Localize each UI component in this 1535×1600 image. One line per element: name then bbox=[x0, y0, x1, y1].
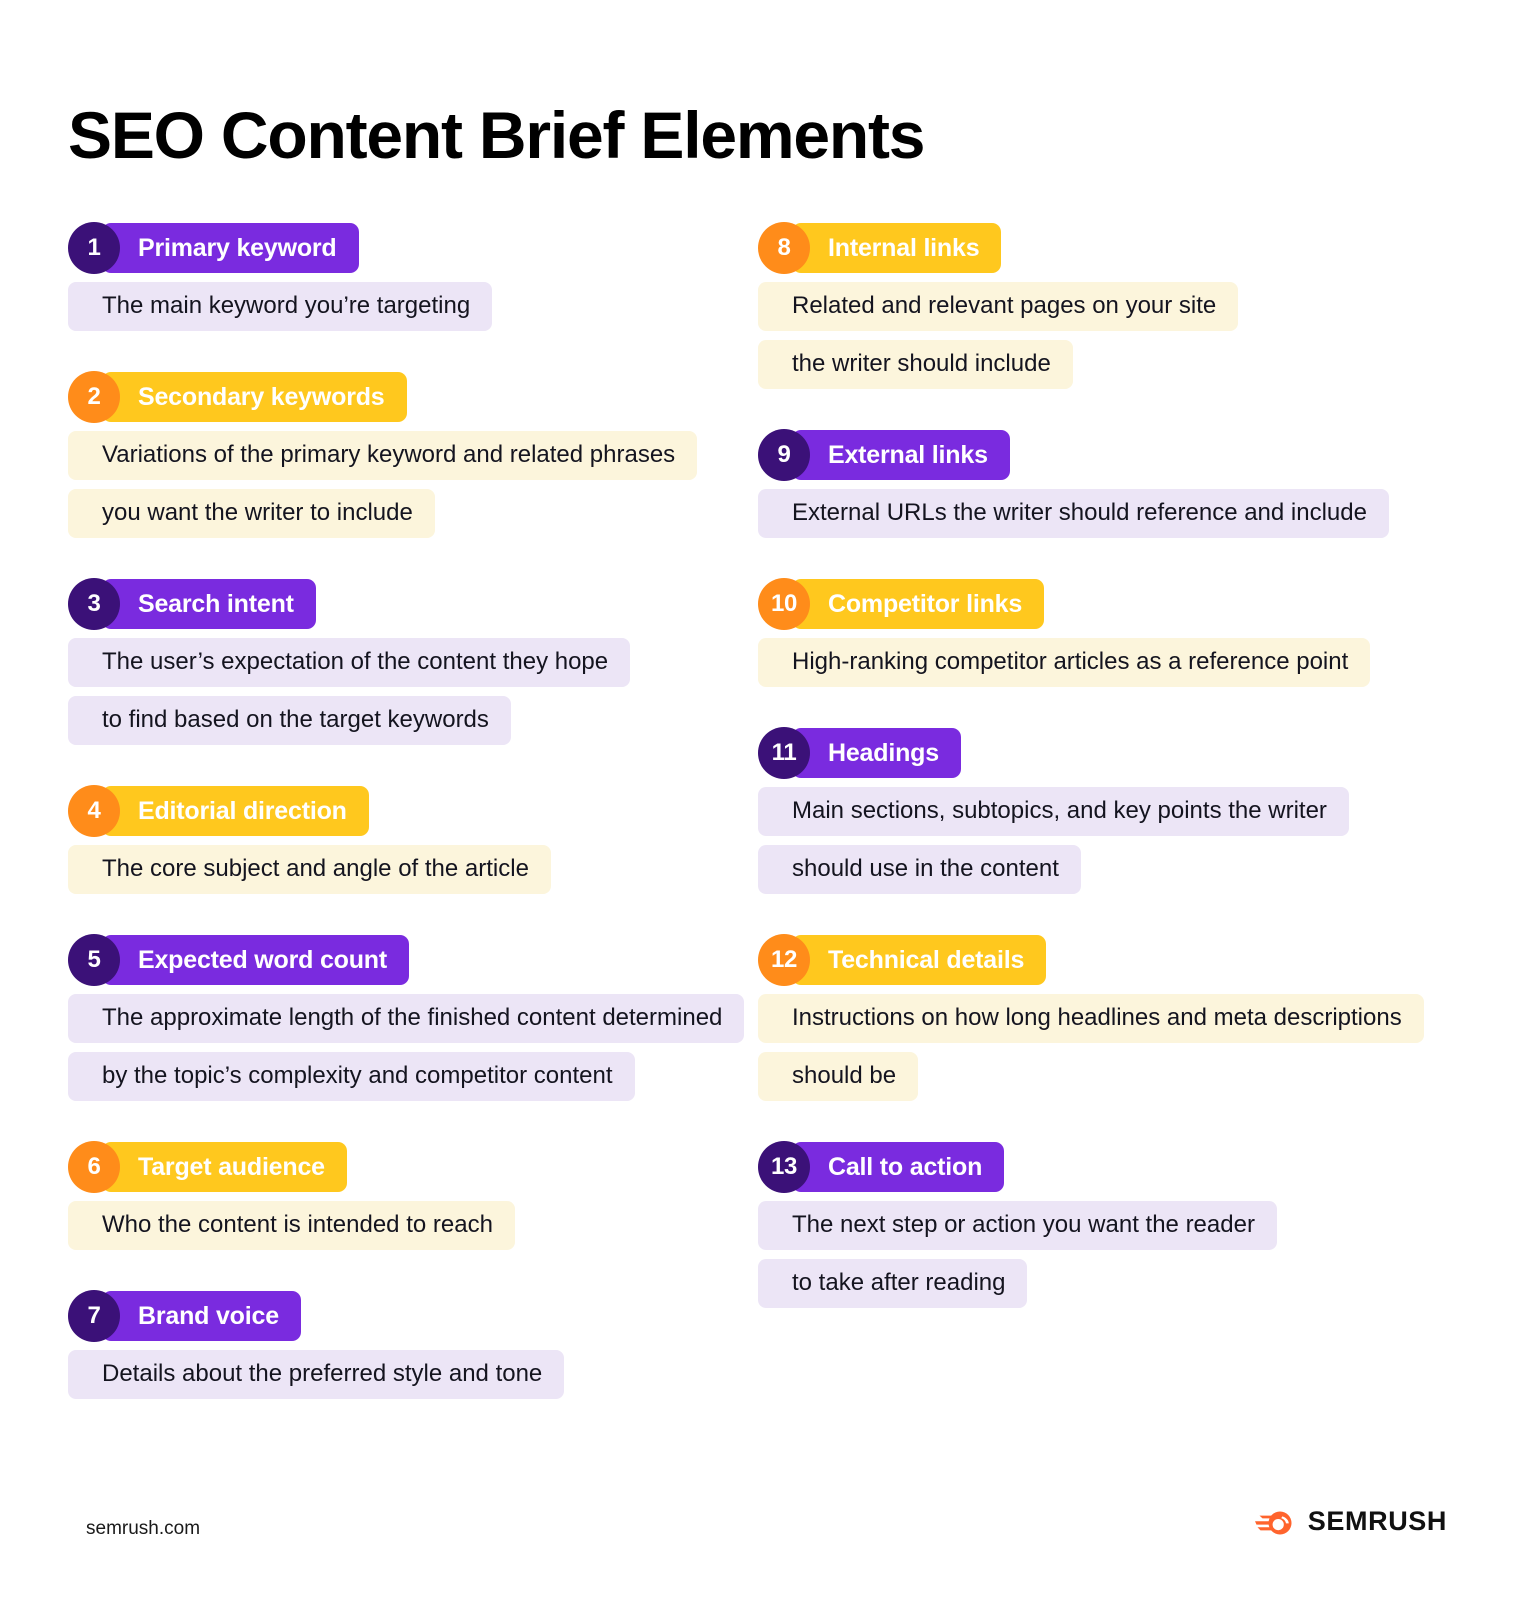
item-number-badge: 3 bbox=[68, 578, 120, 630]
item-number-badge: 2 bbox=[68, 371, 120, 423]
item-header: 5Expected word count bbox=[68, 934, 758, 986]
description-line: by the topic’s complexity and competitor… bbox=[68, 1052, 635, 1101]
item-description: External URLs the writer should referenc… bbox=[758, 489, 1458, 538]
brief-element-item: 10Competitor linksHigh-ranking competito… bbox=[758, 578, 1458, 687]
description-line: The user’s expectation of the content th… bbox=[68, 638, 630, 687]
footer: semrush.com SEMRUSH bbox=[0, 1480, 1535, 1600]
item-label-pill: Secondary keywords bbox=[102, 372, 407, 422]
brief-element-item: 4Editorial directionThe core subject and… bbox=[68, 785, 758, 894]
item-header: 1Primary keyword bbox=[68, 222, 758, 274]
description-line: you want the writer to include bbox=[68, 489, 435, 538]
item-description: The approximate length of the finished c… bbox=[68, 994, 758, 1101]
item-header: 3Search intent bbox=[68, 578, 758, 630]
brief-element-item: 2Secondary keywordsVariations of the pri… bbox=[68, 371, 758, 538]
footer-site-url: semrush.com bbox=[86, 1518, 200, 1540]
item-label-pill: Headings bbox=[792, 728, 961, 778]
description-line: the writer should include bbox=[758, 340, 1073, 389]
brief-element-item: 7Brand voiceDetails about the preferred … bbox=[68, 1290, 758, 1399]
infographic-page: SEO Content Brief Elements 1Primary keyw… bbox=[0, 0, 1535, 1600]
item-description: The main keyword you’re targeting bbox=[68, 282, 758, 331]
item-number-badge: 5 bbox=[68, 934, 120, 986]
brief-element-item: 8Internal linksRelated and relevant page… bbox=[758, 222, 1458, 389]
item-label-pill: Internal links bbox=[792, 223, 1001, 273]
description-line: The next step or action you want the rea… bbox=[758, 1201, 1277, 1250]
description-line: High-ranking competitor articles as a re… bbox=[758, 638, 1370, 687]
item-number-badge: 1 bbox=[68, 222, 120, 274]
right-column: 8Internal linksRelated and relevant page… bbox=[758, 222, 1458, 1308]
item-description: The user’s expectation of the content th… bbox=[68, 638, 758, 745]
item-description: Variations of the primary keyword and re… bbox=[68, 431, 758, 538]
item-header: 11Headings bbox=[758, 727, 1458, 779]
brief-element-item: 3Search intentThe user’s expectation of … bbox=[68, 578, 758, 745]
item-number-badge: 11 bbox=[758, 727, 810, 779]
description-line: to take after reading bbox=[758, 1259, 1027, 1308]
item-description: Details about the preferred style and to… bbox=[68, 1350, 758, 1399]
brief-element-item: 12Technical detailsInstructions on how l… bbox=[758, 934, 1458, 1101]
page-title: SEO Content Brief Elements bbox=[68, 102, 924, 168]
description-line: to find based on the target keywords bbox=[68, 696, 511, 745]
item-label-pill: External links bbox=[792, 430, 1010, 480]
item-number-badge: 13 bbox=[758, 1141, 810, 1193]
item-label-pill: Target audience bbox=[102, 1142, 347, 1192]
item-header: 13Call to action bbox=[758, 1141, 1458, 1193]
item-description: Main sections, subtopics, and key points… bbox=[758, 787, 1458, 894]
item-label-pill: Primary keyword bbox=[102, 223, 359, 273]
item-header: 8Internal links bbox=[758, 222, 1458, 274]
item-number-badge: 6 bbox=[68, 1141, 120, 1193]
item-label-pill: Brand voice bbox=[102, 1291, 301, 1341]
item-label-pill: Call to action bbox=[792, 1142, 1004, 1192]
semrush-logo: SEMRUSH bbox=[1255, 1506, 1447, 1537]
description-line: The approximate length of the finished c… bbox=[68, 994, 744, 1043]
item-description: Related and relevant pages on your sitet… bbox=[758, 282, 1458, 389]
description-line: External URLs the writer should referenc… bbox=[758, 489, 1389, 538]
description-line: should be bbox=[758, 1052, 918, 1101]
description-line: The main keyword you’re targeting bbox=[68, 282, 492, 331]
description-line: should use in the content bbox=[758, 845, 1081, 894]
item-description: Who the content is intended to reach bbox=[68, 1201, 758, 1250]
item-number-badge: 4 bbox=[68, 785, 120, 837]
left-column: 1Primary keywordThe main keyword you’re … bbox=[68, 222, 758, 1399]
item-label-pill: Competitor links bbox=[792, 579, 1044, 629]
brief-element-item: 11HeadingsMain sections, subtopics, and … bbox=[758, 727, 1458, 894]
item-header: 10Competitor links bbox=[758, 578, 1458, 630]
item-header: 6Target audience bbox=[68, 1141, 758, 1193]
description-line: Details about the preferred style and to… bbox=[68, 1350, 564, 1399]
item-header: 4Editorial direction bbox=[68, 785, 758, 837]
item-label-pill: Expected word count bbox=[102, 935, 409, 985]
description-line: Variations of the primary keyword and re… bbox=[68, 431, 697, 480]
item-header: 12Technical details bbox=[758, 934, 1458, 986]
item-label-pill: Search intent bbox=[102, 579, 316, 629]
item-number-badge: 7 bbox=[68, 1290, 120, 1342]
brief-element-item: 9External linksExternal URLs the writer … bbox=[758, 429, 1458, 538]
item-header: 9External links bbox=[758, 429, 1458, 481]
items-columns: 1Primary keywordThe main keyword you’re … bbox=[0, 222, 1535, 1399]
item-number-badge: 9 bbox=[758, 429, 810, 481]
item-label-pill: Technical details bbox=[792, 935, 1046, 985]
description-line: Instructions on how long headlines and m… bbox=[758, 994, 1424, 1043]
brief-element-item: 13Call to actionThe next step or action … bbox=[758, 1141, 1458, 1308]
item-description: High-ranking competitor articles as a re… bbox=[758, 638, 1458, 687]
item-number-badge: 10 bbox=[758, 578, 810, 630]
description-line: Main sections, subtopics, and key points… bbox=[758, 787, 1349, 836]
brief-element-item: 1Primary keywordThe main keyword you’re … bbox=[68, 222, 758, 331]
item-description: The core subject and angle of the articl… bbox=[68, 845, 758, 894]
item-number-badge: 8 bbox=[758, 222, 810, 274]
description-line: Related and relevant pages on your site bbox=[758, 282, 1238, 331]
item-header: 2Secondary keywords bbox=[68, 371, 758, 423]
semrush-wordmark: SEMRUSH bbox=[1308, 1506, 1447, 1537]
description-line: Who the content is intended to reach bbox=[68, 1201, 515, 1250]
item-description: Instructions on how long headlines and m… bbox=[758, 994, 1458, 1101]
item-header: 7Brand voice bbox=[68, 1290, 758, 1342]
semrush-comet-icon bbox=[1255, 1507, 1297, 1537]
item-number-badge: 12 bbox=[758, 934, 810, 986]
description-line: The core subject and angle of the articl… bbox=[68, 845, 551, 894]
item-description: The next step or action you want the rea… bbox=[758, 1201, 1458, 1308]
brief-element-item: 5Expected word countThe approximate leng… bbox=[68, 934, 758, 1101]
item-label-pill: Editorial direction bbox=[102, 786, 369, 836]
brief-element-item: 6Target audienceWho the content is inten… bbox=[68, 1141, 758, 1250]
